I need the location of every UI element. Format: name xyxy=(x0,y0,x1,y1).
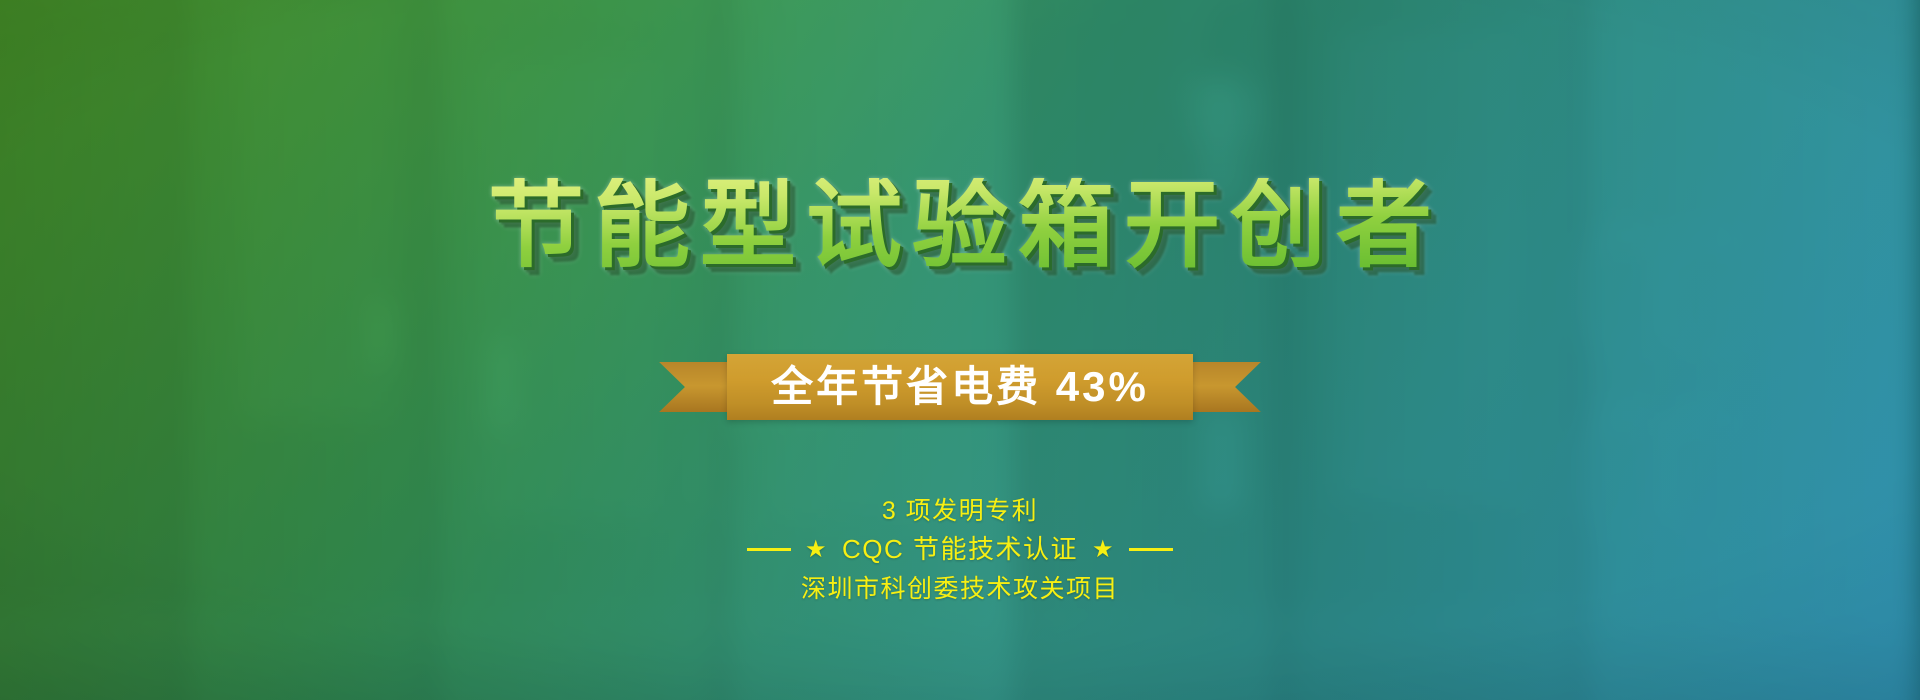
credentials-block: 3 项发明专利 ★ CQC 节能技术认证 ★ 深圳市科创委技术攻关项目 xyxy=(747,492,1173,608)
savings-ribbon: 全年节省电费 43% xyxy=(727,354,1193,420)
star-right-icon: ★ xyxy=(1092,538,1115,562)
dash-right-icon xyxy=(1129,548,1173,551)
dash-left-icon xyxy=(747,548,791,551)
credential-project-text: 深圳市科创委技术攻关项目 xyxy=(801,570,1119,608)
ribbon-label: 全年节省电费 43% xyxy=(771,366,1149,408)
promo-banner: 节能型试验箱开创者 全年节省电费 43% 3 项发明专利 ★ CQC 节能技术认… xyxy=(0,0,1920,700)
credential-line-project: 深圳市科创委技术攻关项目 xyxy=(801,570,1119,608)
star-left-icon: ★ xyxy=(805,538,828,562)
credential-patents-text: 3 项发明专利 xyxy=(882,492,1038,530)
banner-content: 节能型试验箱开创者 全年节省电费 43% 3 项发明专利 ★ CQC 节能技术认… xyxy=(0,0,1920,700)
headline: 节能型试验箱开创者 xyxy=(478,178,1442,274)
credential-line-patents: 3 项发明专利 xyxy=(882,492,1038,530)
ribbon-body: 全年节省电费 43% xyxy=(727,354,1193,420)
credential-line-cqc: ★ CQC 节能技术认证 ★ xyxy=(747,530,1173,570)
credential-cqc-text: CQC 节能技术认证 xyxy=(842,530,1078,570)
